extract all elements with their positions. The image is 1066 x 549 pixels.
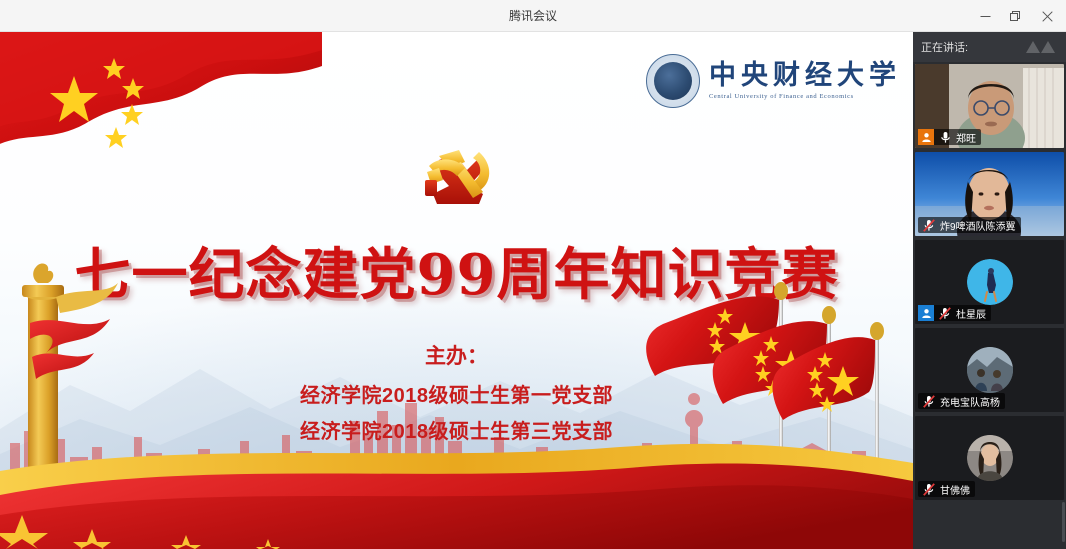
university-logo: 中央财经大学 Central University of Finance and… [646,54,901,108]
close-button[interactable] [1032,0,1062,32]
person-icon [918,129,934,145]
speaking-now-label: 正在讲话: [921,39,968,55]
participant-badges: 甘佛佛 [918,481,975,497]
bottom-ribbon-decoration [0,437,913,549]
tencent-meeting-window: 腾讯会议 [0,0,1066,549]
participant-tile[interactable]: 郑旺 [915,64,1064,148]
window-title: 腾讯会议 [0,0,1066,32]
university-name-cn: 中央财经大学 [709,62,901,89]
chinese-flag-corner [0,32,322,176]
participant-panel-scrollbar[interactable] [1062,502,1065,542]
avatar-portrait-photo [967,435,1013,481]
participant-badges: 充电宝队高杨 [918,393,1005,409]
participant-name: 郑旺 [956,130,976,145]
microphone-muted-icon [921,481,937,497]
speaking-now-header: 正在讲话: [913,32,1066,62]
shared-screen-stage[interactable]: 中央财经大学 Central University of Finance and… [0,32,913,549]
avatar-group-photo [967,347,1013,393]
participant-name: 杜星辰 [956,306,986,321]
participant-name: 炸9啤酒队陈添翼 [940,218,1016,233]
participant-tile[interactable]: 充电宝队高杨 [915,328,1064,412]
microphone-on-icon [937,129,953,145]
person-icon [918,305,934,321]
close-icon [1042,11,1053,22]
tencent-meeting-watermark-icon [1024,39,1058,55]
cpc-party-emblem-icon [409,136,505,212]
participant-tile[interactable]: 炸9啤酒队陈添翼 [915,152,1064,236]
maximize-icon [1010,11,1021,22]
title-bar: 腾讯会议 [0,0,1066,32]
microphone-muted-icon [937,305,953,321]
microphone-muted-icon [921,217,937,233]
participant-panel: 正在讲话: [913,32,1066,549]
participant-tile[interactable]: 杜星辰 [915,240,1064,324]
participant-badges: 郑旺 [918,129,981,145]
participant-name: 充电宝队高杨 [940,394,1000,409]
microphone-muted-icon [921,393,937,409]
university-seal-icon [646,54,700,108]
university-name-en: Central University of Finance and Econom… [709,94,901,101]
participant-badges: 炸9啤酒队陈添翼 [918,217,1021,233]
participant-badges: 杜星辰 [918,305,991,321]
maximize-button[interactable] [1000,0,1030,32]
participant-name: 甘佛佛 [940,482,970,497]
participant-tile[interactable]: 甘佛佛 [915,416,1064,500]
minimize-button[interactable] [970,0,1000,32]
presentation-slide: 中央财经大学 Central University of Finance and… [0,32,913,549]
minimize-icon [980,11,991,22]
avatar-beach-image [967,259,1013,305]
